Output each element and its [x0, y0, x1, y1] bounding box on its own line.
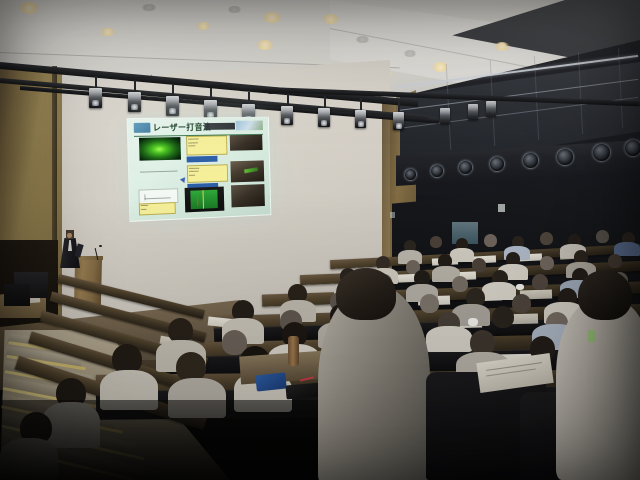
balcony-downlight: [556, 148, 574, 166]
lecture-hall-photo: レーザー打音法 ▪▪▪▪▪▪▪▪▪▪▪▪▪▪▪▪▪▪▪▪▪▪▪▪▪▪▪▪▪▪▪ …: [0, 0, 640, 480]
audience-head: [532, 274, 548, 290]
exit-sign: [390, 212, 395, 218]
stage-light-lens: [321, 120, 327, 126]
stage-light-lens: [284, 118, 290, 124]
slide-divider: [139, 171, 177, 173]
light-cable: [266, 90, 306, 94]
lanyard-badge: [588, 330, 595, 342]
ceiling-downlight: [322, 14, 340, 24]
balcony-downlight: [404, 168, 417, 181]
audience-head: [484, 234, 497, 247]
ceiling-downlight: [262, 12, 282, 23]
smartphone[interactable]: [285, 383, 320, 400]
tablet-device[interactable]: [255, 372, 287, 391]
face-mask-icon: [468, 318, 478, 326]
ceiling-downlight: [228, 6, 241, 13]
ceiling-downlight: [18, 2, 40, 14]
slide-panel-tunnel-photo-lower-right: [231, 184, 265, 207]
balcony-downlight: [458, 160, 473, 175]
slide-logo-icon: [134, 123, 150, 133]
stage-light-fixture: [486, 101, 496, 117]
ceiling-downlight: [404, 50, 416, 57]
audience-torso: [482, 282, 516, 300]
foreground-shadow: [0, 400, 330, 480]
slide-title-tag: [204, 122, 235, 129]
audience-torso: [426, 326, 472, 352]
ceiling-downlight: [142, 4, 156, 11]
stage-light-lens: [358, 121, 364, 127]
audience-head: [540, 232, 553, 245]
av-equipment: [4, 284, 30, 306]
slide-panel-waveform-graph: [185, 187, 225, 212]
audience-head: [420, 294, 439, 313]
light-cable: [190, 82, 230, 86]
ceiling-downlight: [100, 28, 116, 36]
slide-panel-laser-green-photo: [138, 137, 181, 160]
audience-head: [512, 294, 531, 313]
audience-head: [472, 258, 486, 272]
thermos-bottle: [288, 336, 299, 366]
stage-light-fixture: [440, 108, 450, 124]
audience-head: [430, 236, 442, 248]
slide-title-photo: [236, 121, 263, 131]
microphone-icon: [99, 245, 102, 247]
audience-head: [540, 256, 554, 270]
projection-screen: レーザー打音法 ▪▪▪▪▪▪▪▪▪▪▪▪▪▪▪▪▪▪▪▪▪▪▪▪▪▪▪▪▪▪▪ …: [127, 117, 270, 220]
audience-head: [452, 276, 468, 292]
balcony-downlight: [430, 164, 444, 178]
slide-callout-middle-text: ▪▪▪▪▪▪▪▪▪▪▪▪▪▪▪▪▪▪▪▪▪▪▪▪▪▪▪▪▪▪: [189, 166, 224, 179]
stage-light-lens: [169, 108, 176, 114]
stage-light-lens: [92, 100, 99, 106]
slide-panel-thumbnail-upper-right: [229, 135, 262, 150]
ceiling-downlight: [196, 22, 211, 30]
ceiling-downlight: [356, 36, 369, 43]
balcony-downlight: [624, 139, 640, 157]
foreground-attendee-head: [336, 268, 396, 320]
exit-sign: [498, 204, 505, 212]
ceiling-downlight: [494, 42, 510, 51]
audience-torso: [450, 248, 474, 262]
slide-panel-blue-caption-upper: [187, 156, 218, 163]
slide-arrow-icon: [179, 177, 186, 184]
slide-panel-tunnel-photo-right: [230, 160, 264, 182]
ceiling-downlight: [256, 40, 274, 50]
presentation-slide: レーザー打音法 ▪▪▪▪▪▪▪▪▪▪▪▪▪▪▪▪▪▪▪▪▪▪▪▪▪▪▪▪▪▪▪ …: [127, 117, 272, 222]
balcony-downlight: [522, 152, 539, 169]
stage-light-fixture: [468, 104, 478, 120]
audience-head: [596, 230, 609, 243]
balcony-downlight: [592, 143, 611, 162]
audience-head: [492, 306, 514, 328]
foreground-attendee-body: [556, 300, 640, 480]
presenter-face: [67, 233, 72, 238]
slide-callout-upper-text: ▪▪▪▪▪▪▪▪▪▪▪▪▪▪▪▪▪▪▪▪▪▪▪▪▪▪▪▪▪▪▪: [188, 138, 223, 152]
face-mask-icon: [516, 284, 524, 290]
foreground-attendee-head: [578, 270, 632, 320]
balcony-downlight: [489, 156, 505, 172]
slide-callout-lower-text: ▪▪▪▪▪▪▪▪▪▪▪▪▪▪: [141, 203, 172, 212]
stage-light-lens: [396, 123, 402, 129]
audience-head: [608, 254, 622, 268]
light-cable: [112, 74, 152, 78]
stage-light-lens: [131, 104, 138, 110]
